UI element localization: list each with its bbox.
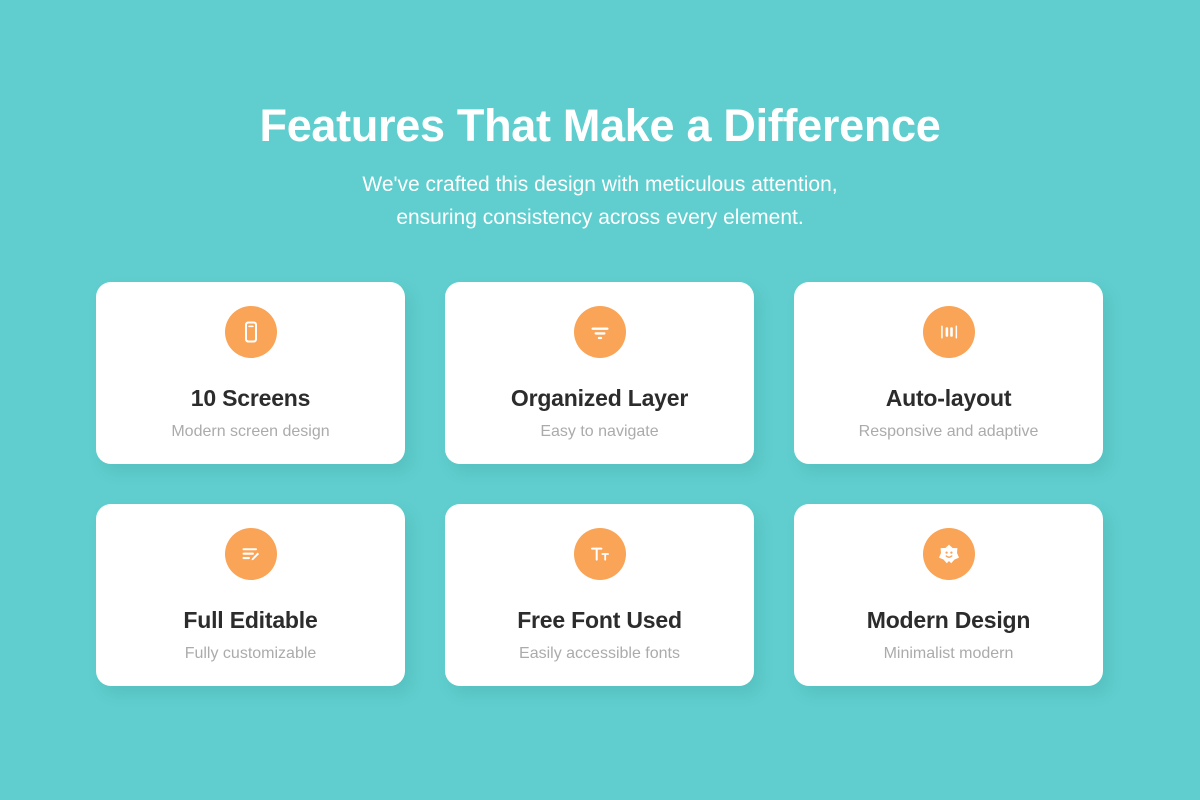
feature-card-subtitle: Minimalist modern	[884, 634, 1014, 664]
feature-card-free-font-used[interactable]: Free Font Used Easily accessible fonts	[445, 504, 754, 686]
feature-card-title: 10 Screens	[191, 358, 310, 412]
feature-card-organized-layer[interactable]: Organized Layer Easy to navigate	[445, 282, 754, 464]
feature-card-title: Full Editable	[183, 580, 317, 634]
feature-card-10-screens[interactable]: 10 Screens Modern screen design	[96, 282, 405, 464]
feature-card-title: Modern Design	[867, 580, 1031, 634]
feature-card-title: Free Font Used	[517, 580, 682, 634]
mobile-phone-icon	[225, 306, 277, 358]
page-subtitle: We've crafted this design with meticulou…	[280, 168, 920, 234]
auto-layout-bars-icon	[923, 306, 975, 358]
features-page: Features That Make a Difference We've cr…	[0, 0, 1200, 800]
feature-card-subtitle: Responsive and adaptive	[859, 412, 1039, 442]
feature-card-subtitle: Modern screen design	[171, 412, 329, 442]
feature-card-full-editable[interactable]: Full Editable Fully customizable	[96, 504, 405, 686]
feature-card-auto-layout[interactable]: Auto-layout Responsive and adaptive	[794, 282, 1103, 464]
feature-card-modern-design[interactable]: Modern Design Minimalist modern	[794, 504, 1103, 686]
edit-pencil-icon	[225, 528, 277, 580]
smiling-star-icon	[923, 528, 975, 580]
feature-card-subtitle: Easily accessible fonts	[519, 634, 680, 664]
page-title: Features That Make a Difference	[0, 98, 1200, 154]
page-subtitle-line-2: ensuring consistency across every elemen…	[280, 201, 920, 234]
page-header: Features That Make a Difference We've cr…	[0, 0, 1200, 234]
feature-card-subtitle: Fully customizable	[185, 634, 317, 664]
filter-lines-icon	[574, 306, 626, 358]
feature-cards-grid: 10 Screens Modern screen design Organize…	[96, 282, 1104, 686]
typography-icon	[574, 528, 626, 580]
feature-card-subtitle: Easy to navigate	[540, 412, 658, 442]
page-subtitle-line-1: We've crafted this design with meticulou…	[280, 168, 920, 201]
feature-card-title: Auto-layout	[886, 358, 1012, 412]
feature-card-title: Organized Layer	[511, 358, 688, 412]
